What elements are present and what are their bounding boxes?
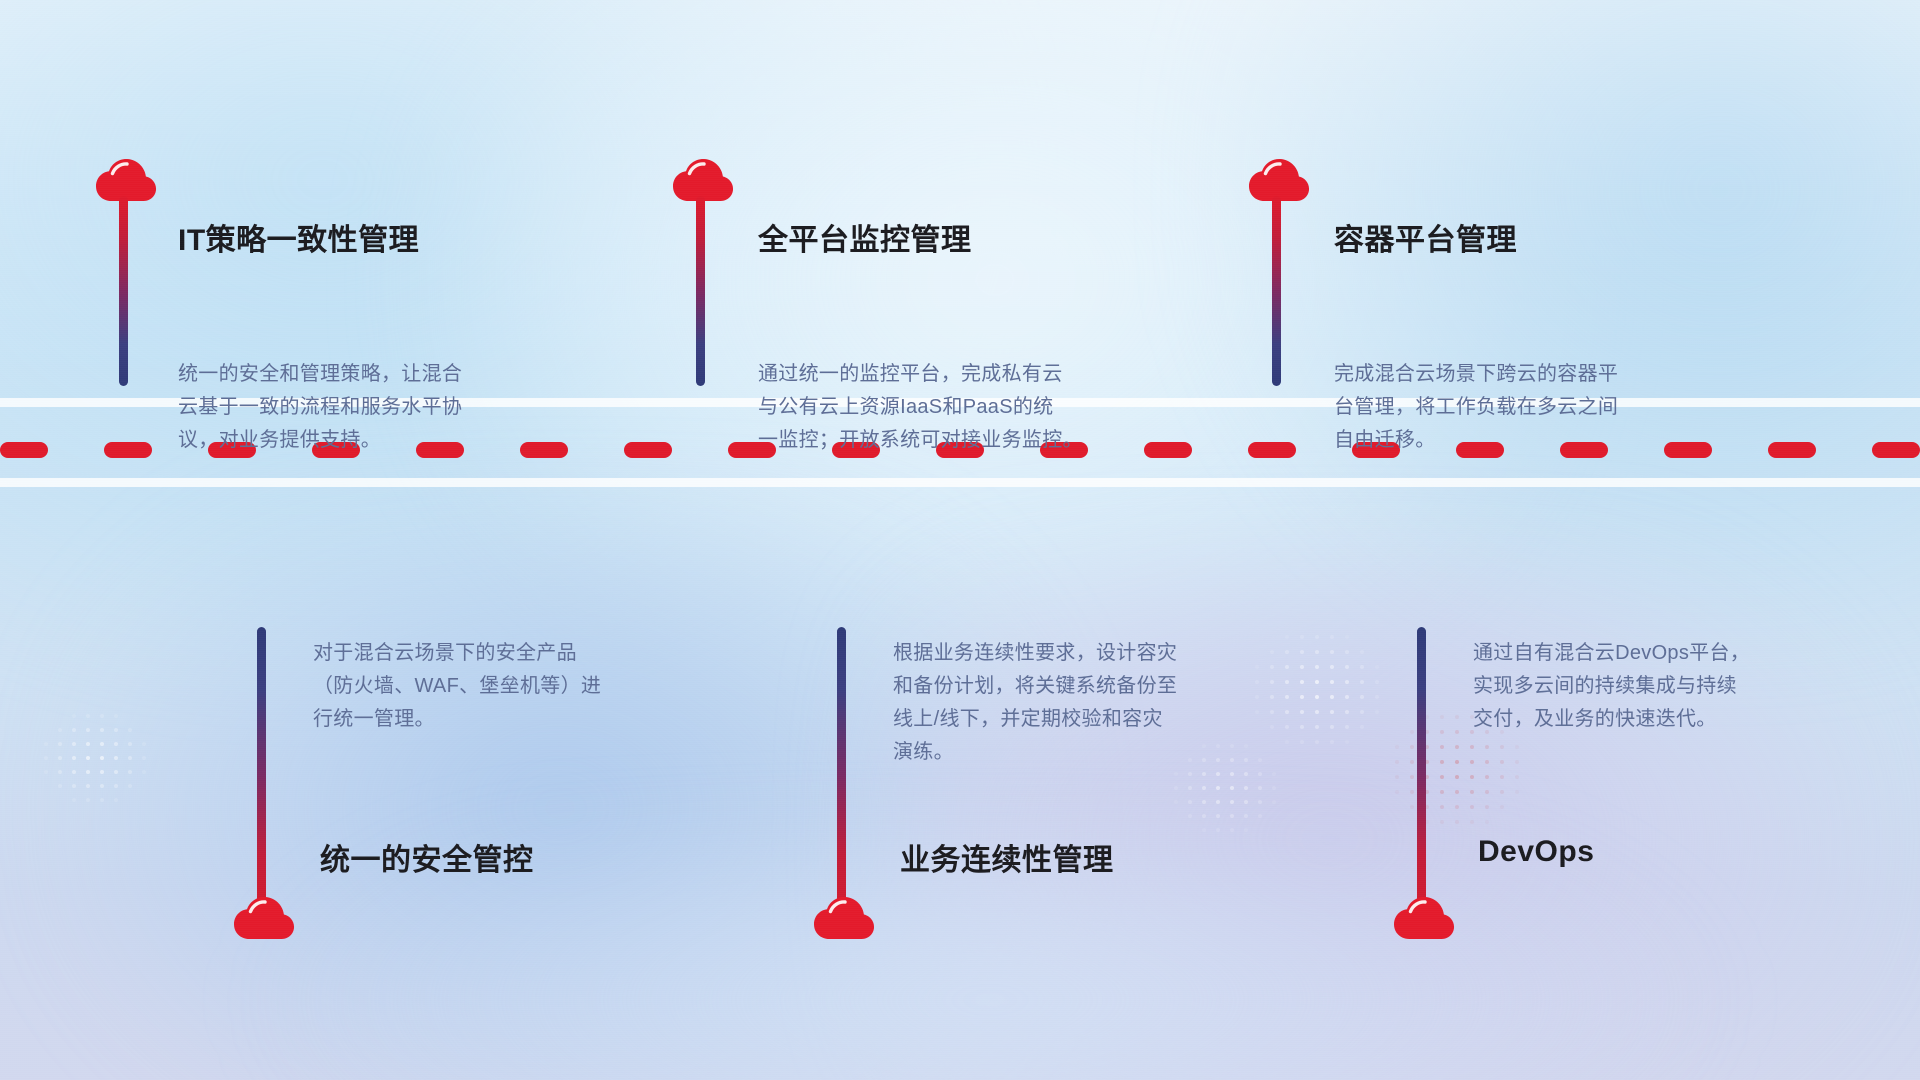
cloud-icon xyxy=(233,896,295,940)
cloud-icon xyxy=(813,896,875,940)
cloud-icon xyxy=(1393,896,1455,940)
road-dash xyxy=(1872,442,1920,458)
card-heading: 统一的安全管控 xyxy=(320,835,534,879)
infographic-canvas: IT策略一致性管理 统一的安全和管理策略，让混合 云基于一致的流程和服务水平协 … xyxy=(0,0,1920,1080)
card-heading: 全平台监控管理 xyxy=(758,215,972,259)
card-heading: DevOps xyxy=(1478,835,1594,869)
card-body: 通过自有混合云DevOps平台， 实现多云间的持续集成与持续 交付，及业务的快速… xyxy=(1473,637,1913,736)
cloud-icon xyxy=(95,158,157,202)
card-body: 根据业务连续性要求，设计容灾 和备份计划，将关键系统备份至 线上/线下，并定期校… xyxy=(893,637,1333,769)
connector-stem xyxy=(257,627,266,912)
connector-stem xyxy=(119,196,128,386)
card-body: 统一的安全和管理策略，让混合 云基于一致的流程和服务水平协 议，对业务提供支持。 xyxy=(178,358,618,457)
road-dash xyxy=(1248,442,1296,458)
cloud-icon xyxy=(1248,158,1310,202)
connector-stem xyxy=(1272,196,1281,386)
road-dash xyxy=(0,442,48,458)
road-line-bottom xyxy=(0,478,1920,487)
road-dash xyxy=(104,442,152,458)
card-heading: 业务连续性管理 xyxy=(900,835,1114,879)
card-heading: 容器平台管理 xyxy=(1334,215,1517,259)
card-body: 通过统一的监控平台，完成私有云 与公有云上资源IaaS和PaaS的统 一监控；开… xyxy=(758,358,1218,457)
road-dash xyxy=(1768,442,1816,458)
cloud-icon xyxy=(672,158,734,202)
card-heading: IT策略一致性管理 xyxy=(178,215,419,259)
connector-stem xyxy=(1417,627,1426,912)
connector-stem xyxy=(837,627,846,912)
connector-stem xyxy=(696,196,705,386)
card-body: 对于混合云场景下的安全产品 （防火墙、WAF、堡垒机等）进 行统一管理。 xyxy=(313,637,753,736)
card-body: 完成混合云场景下跨云的容器平 台管理，将工作负载在多云之间 自由迁移。 xyxy=(1334,358,1774,457)
road-dash xyxy=(624,442,672,458)
